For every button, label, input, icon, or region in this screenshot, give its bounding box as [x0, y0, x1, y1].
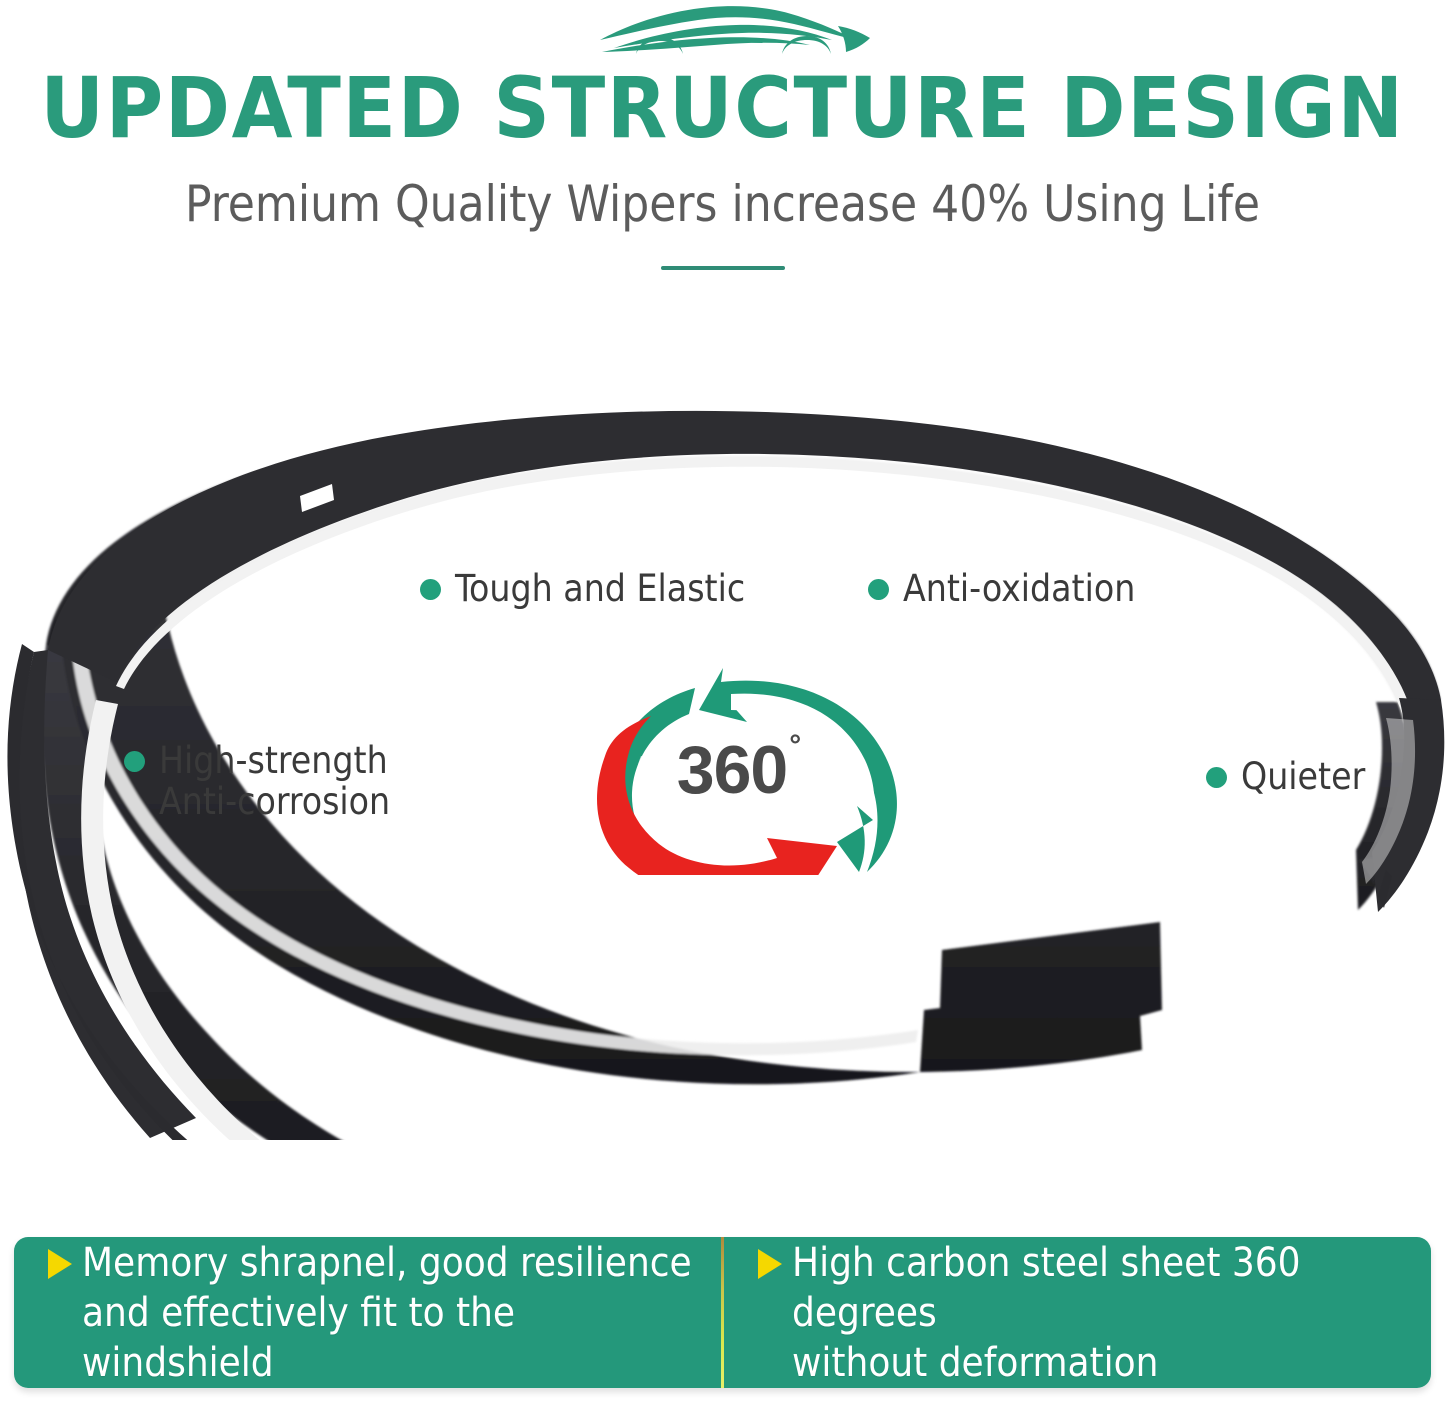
banner-memory-shrapnel: Memory shrapnel, good resilience and eff… — [14, 1237, 721, 1388]
banner-text: High carbon steel sheet 360 degrees with… — [792, 1238, 1413, 1388]
bullet-dot-icon — [420, 579, 441, 600]
callout-label: Tough and Elastic — [455, 568, 745, 609]
callout-tough-and-elastic: Tough and Elastic — [420, 568, 745, 609]
callout-anti-oxidation: Anti-oxidation — [868, 568, 1135, 609]
banner-text: Memory shrapnel, good resilience and eff… — [82, 1238, 703, 1388]
triangle-right-icon — [48, 1249, 72, 1279]
title-divider — [661, 266, 785, 270]
callout-high-strength-anti-corrosion: High-strength Anti-corrosion — [124, 740, 390, 822]
bullet-dot-icon — [868, 579, 889, 600]
callout-quieter: Quieter — [1206, 756, 1365, 797]
car-silhouette-icon — [592, 2, 878, 58]
page-subtitle: Premium Quality Wipers increase 40% Usin… — [14, 174, 1430, 234]
banner-high-carbon-steel: High carbon steel sheet 360 degrees with… — [724, 1237, 1431, 1388]
360-degree-rotation-badge: 360 ° — [571, 660, 921, 875]
triangle-right-icon — [758, 1249, 782, 1279]
bullet-dot-icon — [124, 751, 145, 772]
callout-label: Anti-oxidation — [903, 568, 1135, 609]
callout-label: High-strength Anti-corrosion — [159, 740, 390, 822]
page-title: UPDATED STRUCTURE DESIGN — [0, 62, 1445, 154]
feature-banner-row: Memory shrapnel, good resilience and eff… — [14, 1237, 1431, 1388]
bullet-dot-icon — [1206, 767, 1227, 788]
callout-label: Quieter — [1241, 756, 1365, 797]
